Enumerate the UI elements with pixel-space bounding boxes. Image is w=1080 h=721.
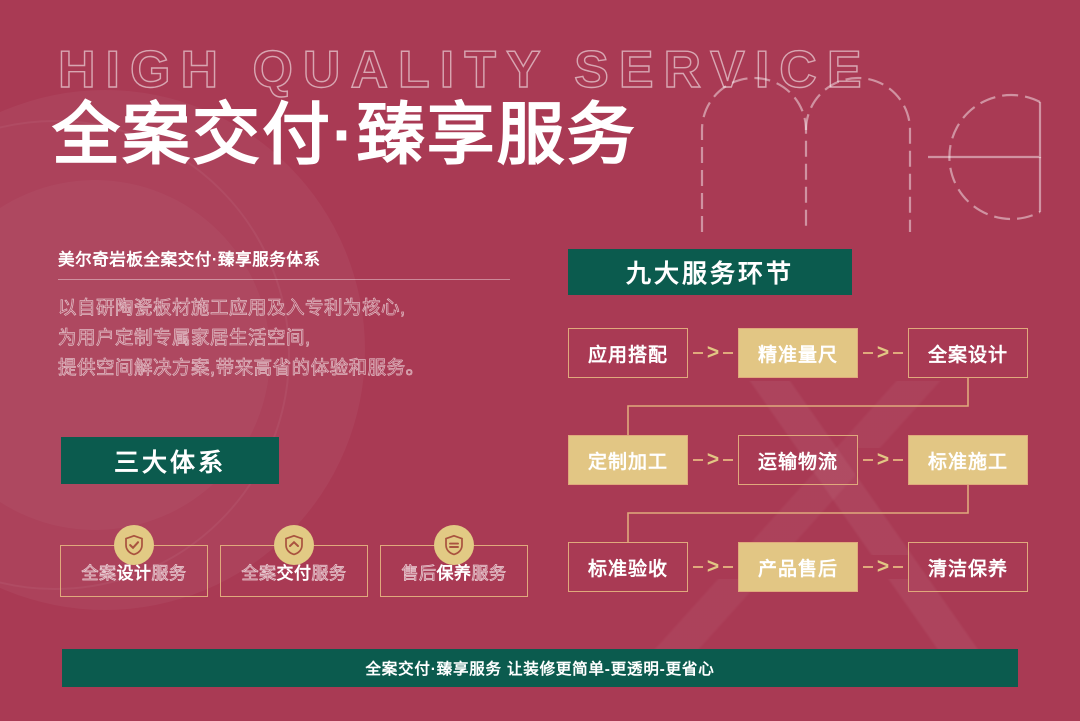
flow-step-box[interactable]: 产品售后 [738,542,858,592]
flow-step-box[interactable]: 标准验收 [568,542,688,592]
shield-home-icon [274,525,314,565]
three-systems-badges: 全案设计服务 全案交付服务 售后保养服务 [60,525,528,597]
flow-step-box[interactable]: 全案设计 [908,328,1028,378]
page-title: 全案交付·臻享服务 [52,100,637,171]
flow-step-box[interactable]: 清洁保养 [908,542,1028,592]
intro-divider [58,279,510,280]
footer-bar: 全案交付·臻享服务 让装修更简单-更透明-更省心 [62,649,1018,687]
shield-wrench-icon [434,525,474,565]
flow-step-box[interactable]: 定制加工 [568,435,688,485]
flow-row: 应用搭配 > 精准量尺 > 全案设计 [568,328,1028,378]
flow-arrow-icon: > [858,448,908,472]
flow-step-box[interactable]: 运输物流 [738,435,858,485]
flow-row: 定制加工 > 运输物流 > 标准施工 [568,435,1028,485]
intro-line: 为用户定制专属家居生活空间, [58,323,510,353]
flow-step-box[interactable]: 标准施工 [908,435,1028,485]
flow-arrow-icon: > [688,555,738,579]
section-chip-nine-steps: 九大服务环节 [568,249,852,295]
nine-steps-flowchart: 应用搭配 > 精准量尺 > 全案设计 定制加工 > 运输物流 > 标准施工 标准… [568,328,1028,600]
flow-row: 标准验收 > 产品售后 > 清洁保养 [568,542,1028,592]
intro-line: 以自研陶瓷板材施工应用及入专利为核心, [58,293,510,323]
shield-check-icon [114,525,154,565]
section-chip-three-systems: 三大体系 [61,437,279,484]
flow-step-box[interactable]: 应用搭配 [568,328,688,378]
flow-arrow-icon: > [688,448,738,472]
footer-slogan: 全案交付·臻享服务 让装修更简单-更透明-更省心 [366,657,715,679]
badge-item[interactable]: 全案交付服务 [220,525,368,597]
badge-item[interactable]: 售后保养服务 [380,525,528,597]
badge-item[interactable]: 全案设计服务 [60,525,208,597]
flow-arrow-icon: > [858,555,908,579]
flow-arrow-icon: > [688,341,738,365]
intro-line: 提供空间解决方案,带来高省的体验和服务。 [58,353,510,383]
flow-step-box[interactable]: 精准量尺 [738,328,858,378]
eyebrow-headline: HIGH QUALITY SERVICE [58,44,872,96]
flow-arrow-icon: > [858,341,908,365]
intro-title: 美尔奇岩板全案交付·臻享服务体系 [58,246,510,270]
intro-block: 美尔奇岩板全案交付·臻享服务体系 以自研陶瓷板材施工应用及入专利为核心, 为用户… [58,246,510,383]
intro-body: 以自研陶瓷板材施工应用及入专利为核心, 为用户定制专属家居生活空间, 提供空间解… [58,293,510,383]
